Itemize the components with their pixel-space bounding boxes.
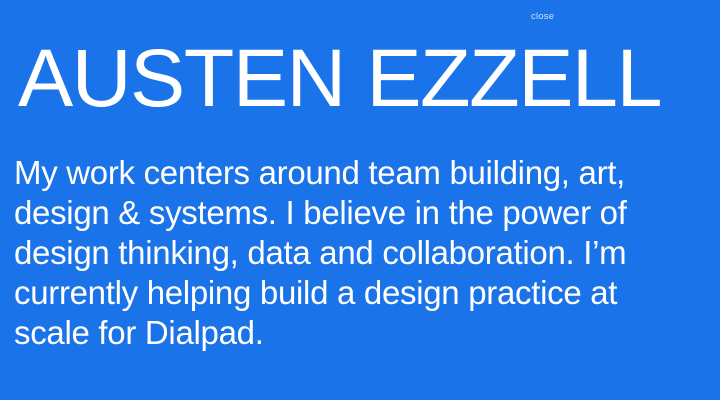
close-button[interactable]: close [531, 11, 554, 23]
intro-line: design & systems. I believe in the power… [14, 193, 714, 233]
page-root: close AUSTEN EZZELL My work centers arou… [0, 0, 720, 400]
top-bar: close [0, 0, 720, 34]
intro-line: My work centers around team building, ar… [14, 153, 714, 193]
intro-line: currently helping build a design practic… [14, 273, 714, 313]
page-title: AUSTEN EZZELL [18, 36, 720, 122]
intro-line: design thinking, data and collaboration.… [14, 233, 714, 273]
intro-line: scale for Dialpad. [14, 313, 714, 353]
intro-paragraph: My work centers around team building, ar… [14, 153, 714, 353]
